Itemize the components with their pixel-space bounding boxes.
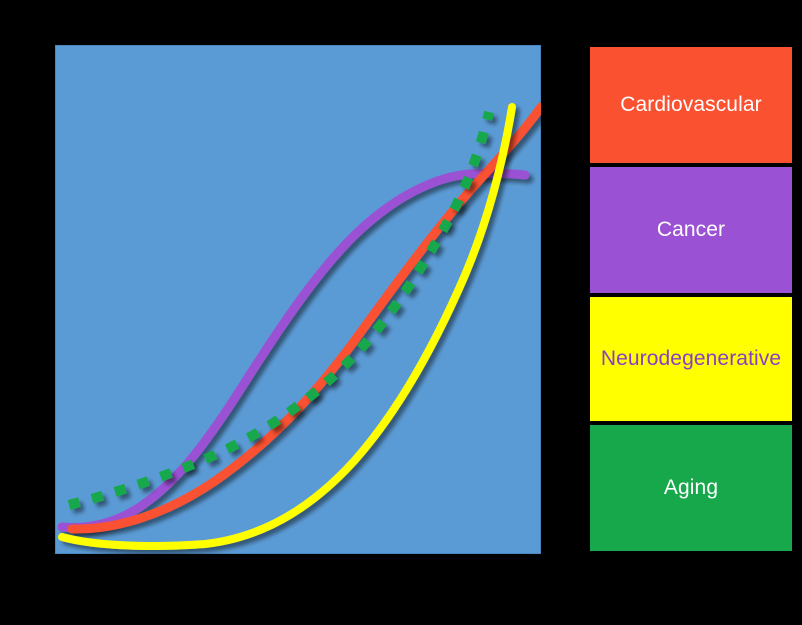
legend-label-cancer: Cancer	[657, 218, 725, 241]
legend-label-cardiovascular: Cardiovascular	[620, 93, 761, 116]
legend-item-neurodegenerative[interactable]: Neurodegenerative	[588, 295, 794, 423]
plot-area	[55, 45, 541, 554]
legend-item-cancer[interactable]: Cancer	[588, 165, 794, 295]
legend-label-neurodegenerative: Neurodegenerative	[601, 347, 781, 370]
figure-root: Cardiovascular Cancer Neurodegenerative …	[0, 0, 802, 625]
legend-item-cardiovascular[interactable]: Cardiovascular	[588, 45, 794, 165]
legend-item-aging[interactable]: Aging	[588, 423, 794, 553]
legend: Cardiovascular Cancer Neurodegenerative …	[588, 45, 794, 553]
legend-label-aging: Aging	[664, 476, 718, 499]
curves-svg	[55, 45, 541, 554]
